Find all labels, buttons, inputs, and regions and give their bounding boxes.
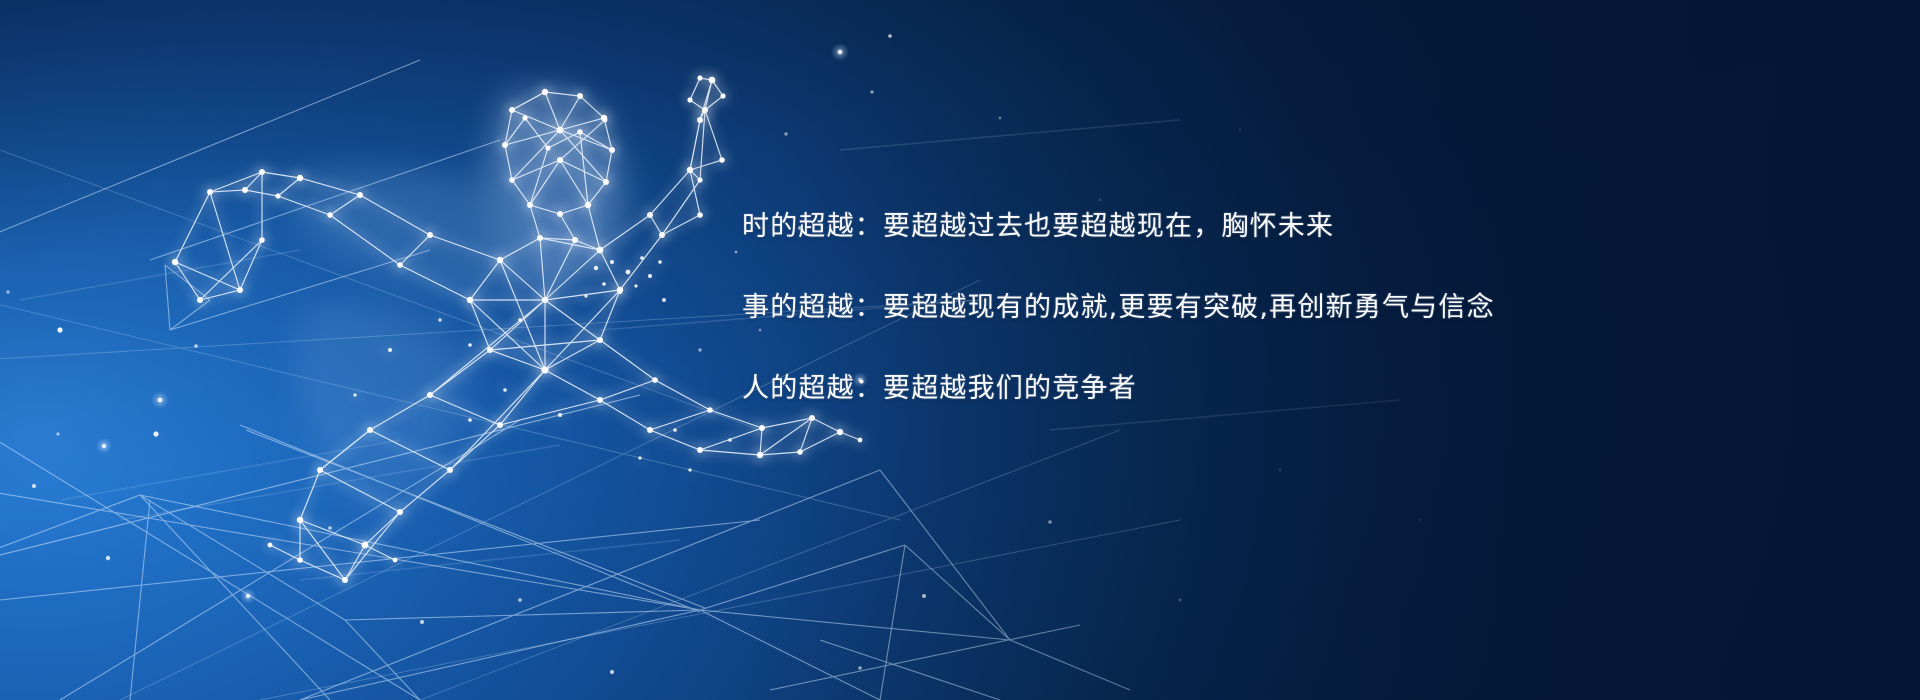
slogan-line-people: 人的超越：要超越我们的竞争者: [742, 348, 1502, 429]
slogan-line-thing: 事的超越：要超越现有的成就,更要有突破,再创新勇气与信念: [742, 267, 1502, 348]
banner-stage: 时的超越：要超越过去也要超越现在，胸怀未来 事的超越：要超越现有的成就,更要有突…: [0, 0, 1920, 700]
slogan-line-time: 时的超越：要超越过去也要超越现在，胸怀未来: [742, 186, 1502, 267]
slogan-text-block: 时的超越：要超越过去也要超越现在，胸怀未来 事的超越：要超越现有的成就,更要有突…: [742, 186, 1502, 429]
